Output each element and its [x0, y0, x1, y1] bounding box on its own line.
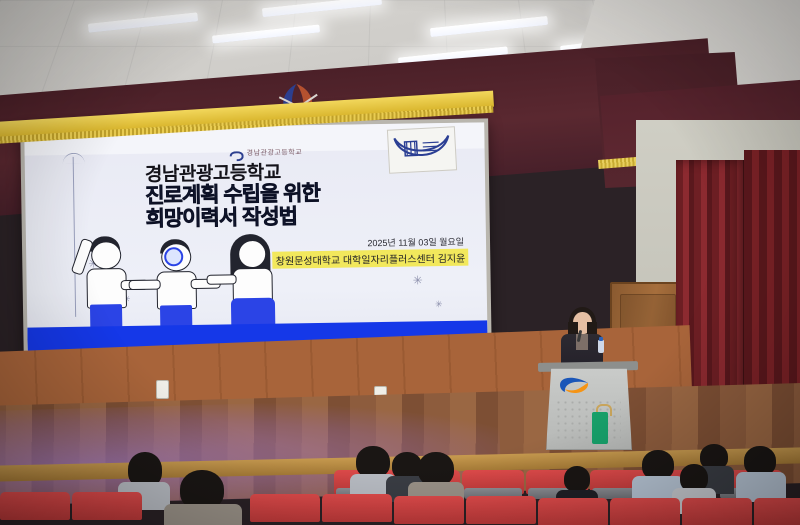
crest-artwork: [392, 132, 452, 169]
podium-perforations: [555, 399, 621, 443]
sparkle-icon: ✳: [413, 273, 423, 287]
cartoon-head: [91, 241, 121, 269]
auditorium-photo: 경남관광고등학교 경남관광고등학교 경남관광고등학교 진로계획 수립을 위: [0, 0, 800, 525]
slide-presenter: 창원문성대학교 대학일자리플러스센터 김지윤: [273, 249, 469, 269]
seat[interactable]: [754, 498, 800, 525]
green-bag: [592, 412, 608, 444]
cartoon-arm: [129, 280, 161, 291]
slide-title-line3: 희망이력서 작성법: [145, 204, 445, 231]
water-bottle: [598, 340, 604, 353]
seat[interactable]: [538, 498, 608, 525]
podium-swoosh-logo: [556, 375, 592, 395]
bottle-cap: [599, 337, 603, 341]
slide-date: 2025년 11월 03일 월요일: [367, 235, 464, 250]
school-emblem-crest: [387, 126, 457, 173]
slide-header-school: 경남관광고등학교: [247, 147, 303, 158]
seat[interactable]: [466, 496, 536, 524]
student-head: [418, 452, 454, 486]
seat[interactable]: [72, 492, 142, 520]
cartoon-body: [156, 271, 197, 310]
slide-header-logo-icon: [230, 148, 244, 158]
seat[interactable]: [322, 494, 392, 522]
seat[interactable]: [394, 496, 464, 524]
seat[interactable]: [682, 498, 752, 525]
sparkle-icon: ✳: [435, 299, 443, 310]
seat[interactable]: [610, 498, 680, 525]
seat[interactable]: [0, 492, 70, 520]
student-uniform: [164, 504, 242, 525]
seat[interactable]: [250, 494, 320, 522]
wall-outlet: [156, 380, 169, 399]
cartoon-arm: [207, 274, 237, 284]
